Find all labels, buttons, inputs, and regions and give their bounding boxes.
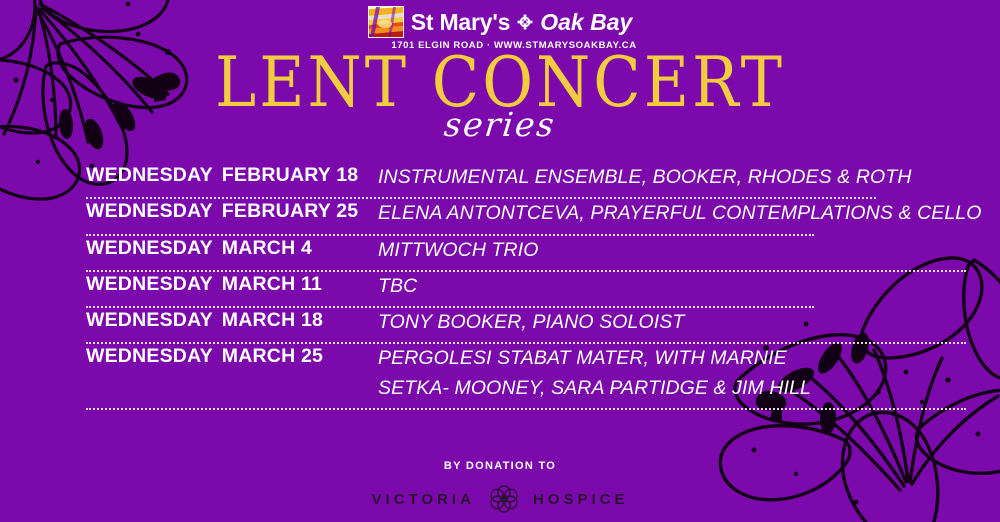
charity-name-second: HOSPICE	[533, 491, 629, 508]
concert-date-value: MARCH 18	[222, 309, 323, 331]
concert-performers: PERGOLESI STABAT MATER, WITH MARNIESETKA…	[378, 344, 811, 403]
concert-weekday: WEDNESDAY	[86, 345, 213, 367]
concert-date: WEDNESDAYMARCH 18	[86, 308, 378, 332]
concert-performers: TBC	[378, 272, 417, 301]
concert-date: WEDNESDAYMARCH 11	[86, 272, 378, 296]
performer-line: TBC	[378, 272, 417, 301]
performer-line: TONY BOOKER, PIANO SOLOIST	[378, 308, 684, 337]
schedule-row: WEDNESDAYMARCH 18TONY BOOKER, PIANO SOLO…	[86, 308, 982, 344]
concert-date-value: MARCH 4	[222, 237, 312, 259]
performer-line: MITTWOCH TRIO	[378, 236, 539, 265]
concert-performers: ELENA ANTONTCEVA, PRAYERFUL CONTEMPLATIO…	[378, 199, 982, 228]
church-name: St Mary's	[411, 11, 511, 34]
concert-performers: MITTWOCH TRIO	[378, 236, 539, 265]
concert-performers: TONY BOOKER, PIANO SOLOIST	[378, 308, 684, 337]
victoria-hospice-logo: VICTORIA HOSPICE	[372, 484, 629, 514]
charity-name-first: VICTORIA	[372, 491, 475, 508]
schedule-row: WEDNESDAYMARCH 4MITTWOCH TRIO	[86, 236, 982, 272]
performer-line: ELENA ANTONTCEVA, PRAYERFUL CONTEMPLATIO…	[378, 199, 982, 228]
concert-performers: INSTRUMENTAL ENSEMBLE, BOOKER, RHODES & …	[378, 163, 912, 192]
row-separator	[86, 408, 966, 410]
schedule-row: WEDNESDAYFEBRUARY 18INSTRUMENTAL ENSEMBL…	[86, 163, 982, 199]
concert-date-value: MARCH 25	[222, 345, 323, 367]
concert-date-value: MARCH 11	[222, 273, 322, 295]
concert-date: WEDNESDAYMARCH 25	[86, 344, 378, 368]
concert-date-value: FEBRUARY 25	[222, 200, 359, 222]
performer-line: INSTRUMENTAL ENSEMBLE, BOOKER, RHODES & …	[378, 163, 912, 192]
performer-line: PERGOLESI STABAT MATER, WITH MARNIE	[378, 344, 811, 373]
church-logo-row: St Mary's Oak Bay	[368, 6, 633, 38]
footer-block: BY DONATION TO VICTORIA HOSPICE	[0, 460, 1000, 514]
parish-name: Oak Bay	[540, 11, 632, 34]
schedule-row: WEDNESDAYFEBRUARY 25ELENA ANTONTCEVA, PR…	[86, 199, 982, 235]
concert-weekday: WEDNESDAY	[86, 237, 213, 259]
concert-weekday: WEDNESDAY	[86, 273, 213, 295]
performer-line: SETKA- MOONEY, SARA PARTIDGE & JIM HILL	[378, 374, 811, 403]
concert-weekday: WEDNESDAY	[86, 309, 213, 331]
concert-date: WEDNESDAYFEBRUARY 25	[86, 199, 378, 223]
st-marys-stained-glass-mark-icon	[368, 6, 404, 38]
donation-label: BY DONATION TO	[444, 460, 556, 472]
schedule-row: WEDNESDAYMARCH 25PERGOLESI STABAT MATER,…	[86, 344, 982, 410]
celtic-cross-icon	[517, 14, 533, 30]
concert-date: WEDNESDAYMARCH 4	[86, 236, 378, 260]
concert-date: WEDNESDAYFEBRUARY 18	[86, 163, 378, 187]
schedule-row: WEDNESDAYMARCH 11TBC	[86, 272, 982, 308]
concert-weekday: WEDNESDAY	[86, 164, 213, 186]
concert-date-value: FEBRUARY 18	[222, 164, 359, 186]
page-subtitle: series	[0, 108, 1000, 141]
concert-weekday: WEDNESDAY	[86, 200, 213, 222]
concert-schedule-list: WEDNESDAYFEBRUARY 18INSTRUMENTAL ENSEMBL…	[86, 163, 982, 410]
victoria-hospice-knot-icon	[489, 484, 519, 514]
lent-concert-series-poster: St Mary's Oak Bay 1701 ELGIN ROAD · WWW.…	[0, 0, 1000, 522]
